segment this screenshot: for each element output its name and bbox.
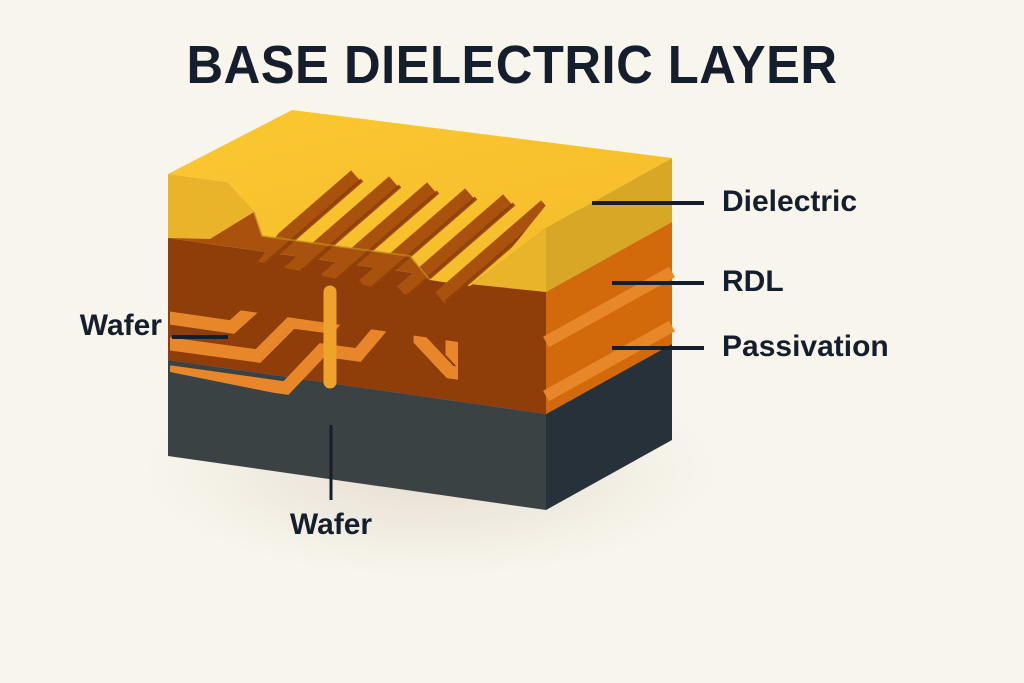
diagram-canvas: BASE DIELECTRIC LAYER bbox=[0, 0, 1024, 683]
callout-label-dielectric: Dielectric bbox=[722, 186, 857, 218]
callout-label-rdl: RDL bbox=[722, 266, 784, 298]
callout-label-wafer-base: Wafer bbox=[241, 509, 421, 541]
callout-label-passivation: Passivation bbox=[722, 331, 889, 363]
callout-label-wafer-side: Wafer bbox=[40, 310, 162, 342]
